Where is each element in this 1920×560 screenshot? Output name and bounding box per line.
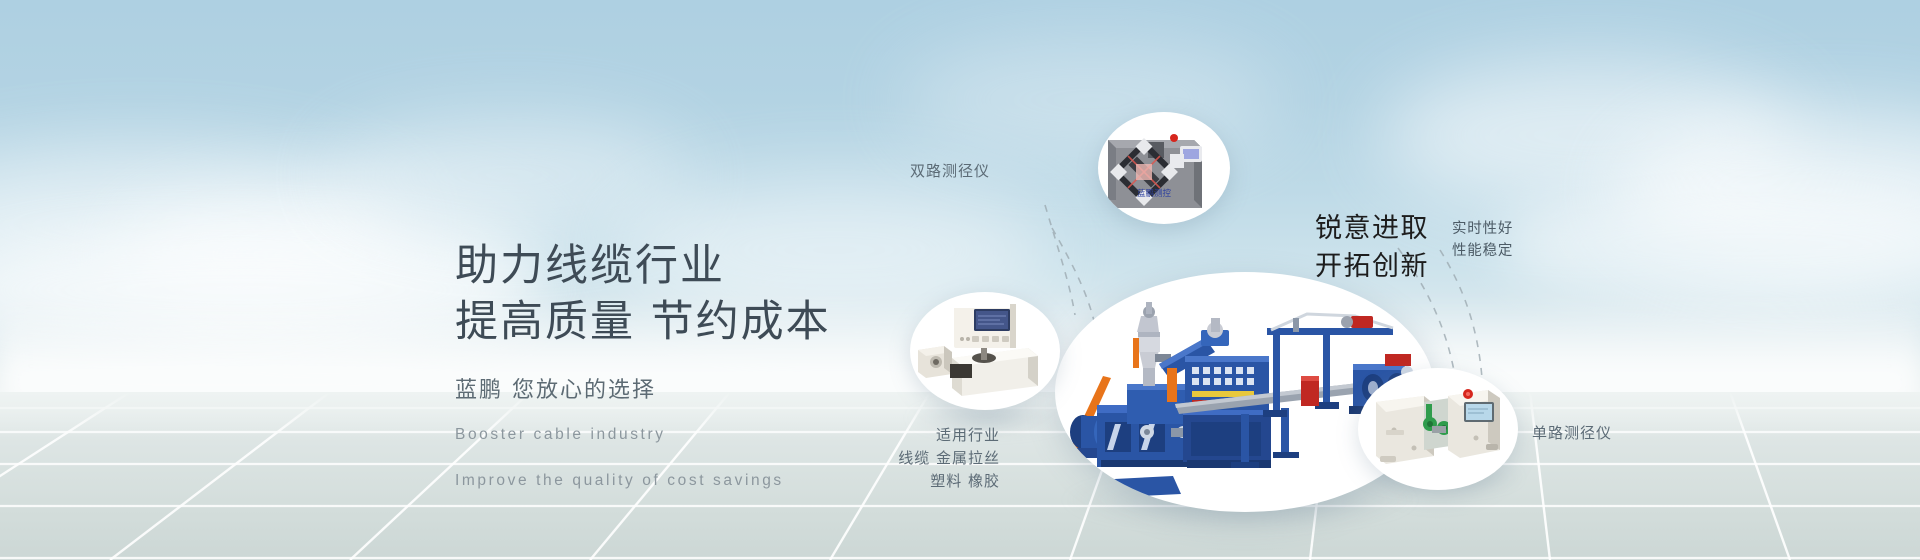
dual-gauge-illustration: 蓝鹏测控 — [1098, 112, 1230, 224]
label-industries-line-1: 线缆 金属拉丝 — [880, 447, 1000, 470]
headline-line-1: 助力线缆行业 — [455, 238, 831, 294]
label-industries-line-2: 塑料 橡胶 — [880, 470, 1000, 493]
label-dual-gauge-text: 双路测径仪 — [910, 162, 990, 180]
english-line-2: Improve the quality of cost savings — [455, 466, 831, 496]
hero-banner: 助力线缆行业 提高质量 节约成本 蓝鹏 您放心的选择 Booster cable… — [0, 0, 1920, 560]
label-single-gauge: 单路测径仪 — [1532, 422, 1692, 445]
single-gauge-illustration — [1358, 368, 1518, 490]
label-industries-title: 适用行业 — [880, 424, 1000, 447]
cloud-shape — [330, 120, 690, 230]
label-dual-gauge: 双路测径仪 — [870, 160, 990, 183]
slogan-line-2: 开拓创新 — [1315, 248, 1429, 286]
label-single-gauge-text: 单路测径仪 — [1532, 424, 1612, 442]
features-block: 实时性好 性能稳定 — [1452, 218, 1513, 262]
feature-realtime: 实时性好 — [1452, 218, 1513, 240]
bubble-single-gauge[interactable] — [1358, 368, 1518, 490]
bubble-control-console[interactable] — [910, 292, 1060, 410]
english-line-1: Booster cable industry — [455, 420, 831, 450]
slogan-line-1: 锐意进取 — [1315, 210, 1429, 248]
tagline: 蓝鹏 您放心的选择 — [455, 372, 831, 404]
bubble-dual-gauge[interactable]: 蓝鹏测控 — [1098, 112, 1230, 224]
dual-gauge-brand-text: 蓝鹏测控 — [1137, 188, 1172, 199]
label-industries: 适用行业 线缆 金属拉丝 塑料 橡胶 — [880, 424, 1000, 493]
slogan-block: 锐意进取 开拓创新 — [1315, 210, 1429, 286]
control-console-illustration — [910, 292, 1060, 410]
headline-line-2: 提高质量 节约成本 — [455, 294, 831, 350]
headline-block: 助力线缆行业 提高质量 节约成本 蓝鹏 您放心的选择 Booster cable… — [455, 238, 831, 496]
feature-stable: 性能稳定 — [1452, 240, 1513, 262]
